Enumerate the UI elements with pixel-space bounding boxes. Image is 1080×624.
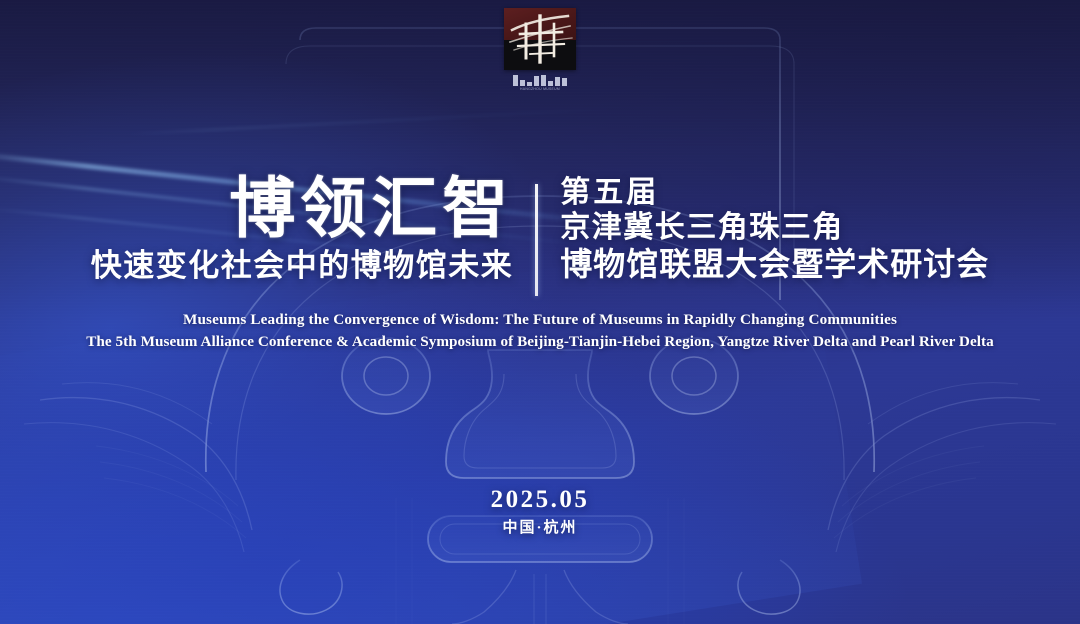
museum-wordmark (497, 73, 583, 86)
conference-name-label: 博物馆联盟大会暨学术研讨会 (560, 246, 989, 284)
event-date: 2025.05 (0, 487, 1080, 512)
headline-block: 博领汇智 快速变化社会中的博物馆未来 第五届 京津冀长三角珠三角 博物馆联盟大会… (0, 176, 1080, 296)
event-location: 中国·杭州 (0, 521, 1080, 536)
region-label: 京津冀长三角珠三角 (560, 210, 989, 245)
title-subtitle: 快速变化社会中的博物馆未来 (91, 249, 514, 283)
edition-label: 第五届 (560, 176, 989, 210)
museum-logo[interactable]: HANGZHOU MUSEUM (497, 8, 583, 91)
conference-poster: HANGZHOU MUSEUM 博领汇智 快速变化社会中的博物馆未来 第五届 京… (0, 0, 1080, 624)
museum-wordmark-en: HANGZHOU MUSEUM (497, 88, 583, 91)
bronze-character-icon (504, 8, 576, 70)
english-theme-line: Museums Leading the Convergence of Wisdo… (0, 311, 1080, 329)
museum-logo-mark (504, 8, 576, 70)
main-title: 博领汇智 (91, 176, 514, 245)
english-title-line: The 5th Museum Alliance Conference & Aca… (0, 333, 1080, 351)
headline-left: 博领汇智 快速变化社会中的博物馆未来 (91, 176, 536, 283)
event-details: 2025.05 中国·杭州 (0, 487, 1080, 536)
headline-right: 第五届 京津冀长三角珠三角 博物馆联盟大会暨学术研讨会 (538, 176, 989, 283)
